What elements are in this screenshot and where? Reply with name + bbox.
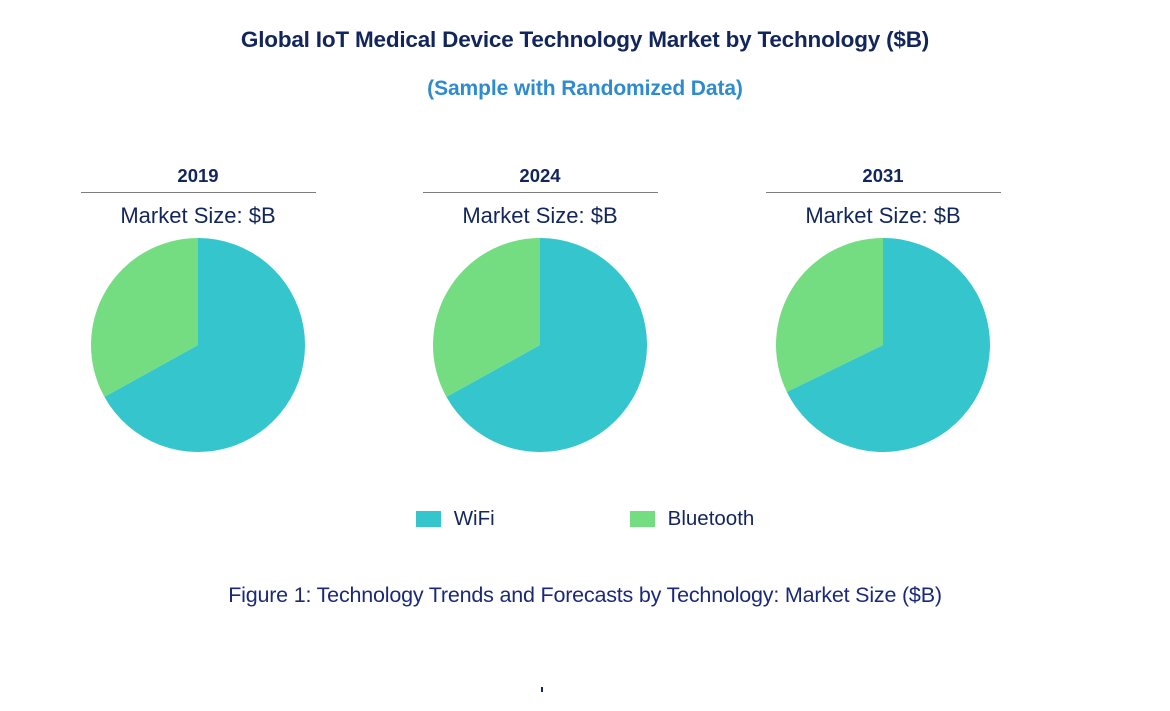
chart-subtitle: (Sample with Randomized Data) [0, 77, 1170, 101]
figure-caption: Figure 1: Technology Trends and Forecast… [0, 583, 1170, 608]
legend-label-bluetooth: Bluetooth [668, 508, 755, 530]
pie-chart-2019 [43, 238, 353, 452]
legend-label-wifi: WiFi [454, 508, 495, 530]
panel-divider [423, 192, 658, 193]
pie-svg-2031 [776, 238, 990, 452]
pie-panel-2019: 2019 Market Size: $B [43, 165, 353, 452]
panel-market-size-label: Market Size: $B [728, 202, 1038, 230]
pie-panel-2024: 2024 Market Size: $B [385, 165, 695, 452]
legend-swatch-bluetooth [630, 511, 655, 527]
panel-market-size-label: Market Size: $B [43, 202, 353, 230]
panel-year-label: 2019 [43, 165, 353, 189]
chart-legend: WiFi Bluetooth [0, 508, 1170, 530]
footer-mark [541, 687, 543, 692]
chart-canvas: Global IoT Medical Device Technology Mar… [0, 0, 1170, 711]
legend-item-bluetooth[interactable]: Bluetooth [630, 508, 755, 530]
pie-panel-2031: 2031 Market Size: $B [728, 165, 1038, 452]
pie-chart-2024 [385, 238, 695, 452]
pie-chart-2031 [728, 238, 1038, 452]
pie-svg-2019 [91, 238, 305, 452]
panel-year-label: 2024 [385, 165, 695, 189]
panel-divider [766, 192, 1001, 193]
pie-panels: 2019 Market Size: $B 2024 Market Size: $… [0, 165, 1170, 485]
legend-item-wifi[interactable]: WiFi [416, 508, 495, 530]
panel-divider [81, 192, 316, 193]
panel-market-size-label: Market Size: $B [385, 202, 695, 230]
panel-year-label: 2031 [728, 165, 1038, 189]
chart-title: Global IoT Medical Device Technology Mar… [0, 27, 1170, 53]
legend-swatch-wifi [416, 511, 441, 527]
pie-svg-2024 [433, 238, 647, 452]
